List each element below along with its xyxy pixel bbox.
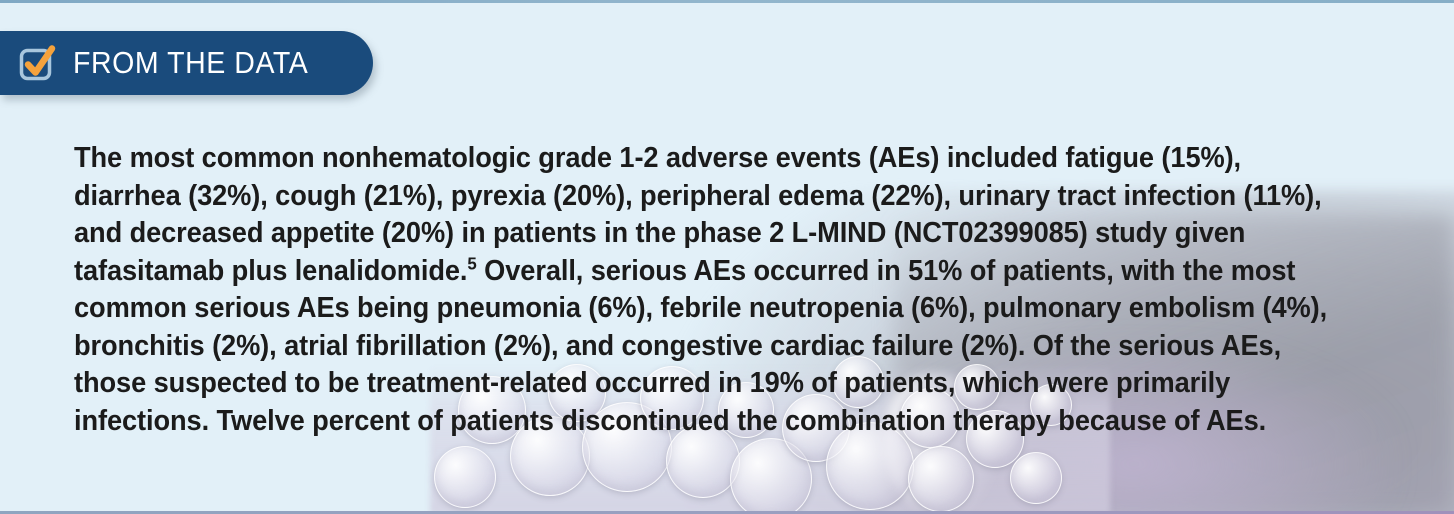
from-the-data-callout: FROM THE DATA The most common nonhematol… [0, 0, 1454, 514]
top-divider-rule [0, 0, 1454, 3]
bubble [1010, 452, 1062, 504]
bubble [730, 438, 812, 514]
bubble [908, 446, 974, 512]
bubble [434, 446, 496, 508]
body-copy: The most common nonhematologic grade 1-2… [74, 140, 1335, 440]
section-banner-title: FROM THE DATA [73, 45, 308, 81]
checked-checkbox-icon [17, 43, 57, 83]
section-banner: FROM THE DATA [0, 31, 373, 95]
reference-marker: 5 [467, 253, 476, 273]
body-paragraph: The most common nonhematologic grade 1-2… [74, 140, 1335, 440]
